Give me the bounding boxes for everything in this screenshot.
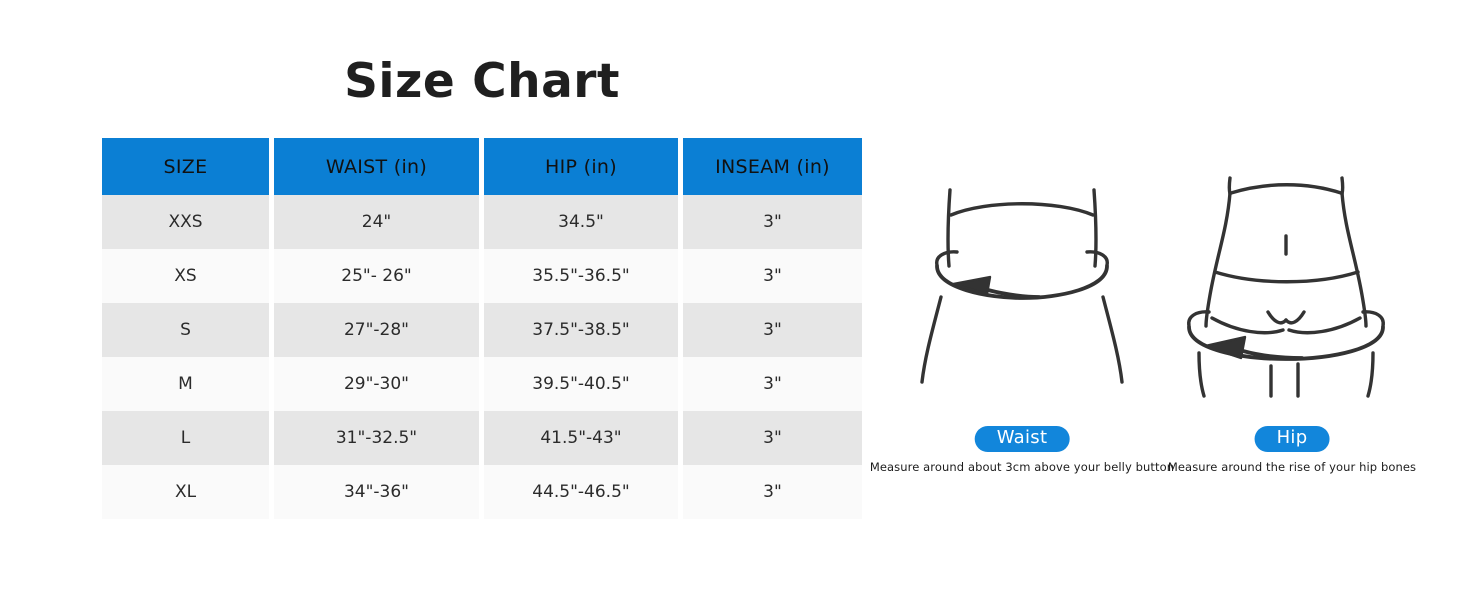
table-row: XS 25"- 26" 35.5"-36.5" 3" xyxy=(102,249,862,303)
arrow-head-icon xyxy=(1205,337,1245,358)
waist-measure-illustration xyxy=(887,160,1157,400)
cell-size: XS xyxy=(102,249,269,303)
table-row: XL 34"-36" 44.5"-46.5" 3" xyxy=(102,465,862,519)
table-row: XXS 24" 34.5" 3" xyxy=(102,195,862,249)
cell-waist: 31"-32.5" xyxy=(274,411,479,465)
cell-waist: 34"-36" xyxy=(274,465,479,519)
waist-measure-block: Waist Measure around about 3cm above you… xyxy=(887,160,1157,490)
cell-size: XXS xyxy=(102,195,269,249)
cell-inseam: 3" xyxy=(683,411,862,465)
cell-size: M xyxy=(102,357,269,411)
column-header-waist: WAIST (in) xyxy=(274,138,479,195)
cell-waist: 27"-28" xyxy=(274,303,479,357)
cell-hip: 37.5"-38.5" xyxy=(484,303,678,357)
table-header-row: SIZE WAIST (in) HIP (in) INSEAM (in) xyxy=(102,138,862,195)
cell-inseam: 3" xyxy=(683,249,862,303)
cell-inseam: 3" xyxy=(683,465,862,519)
cell-size: S xyxy=(102,303,269,357)
table-row: S 27"-28" 37.5"-38.5" 3" xyxy=(102,303,862,357)
cell-waist: 25"- 26" xyxy=(274,249,479,303)
hip-measure-illustration xyxy=(1157,160,1427,400)
page-title: Size Chart xyxy=(102,58,862,105)
column-header-hip: HIP (in) xyxy=(484,138,678,195)
column-header-size: SIZE xyxy=(102,138,269,195)
waist-badge: Waist xyxy=(975,426,1070,452)
hip-caption: Measure around the rise of your hip bone… xyxy=(1168,460,1416,474)
cell-hip: 39.5"-40.5" xyxy=(484,357,678,411)
cell-size: L xyxy=(102,411,269,465)
waist-caption: Measure around about 3cm above your bell… xyxy=(870,460,1174,474)
hip-badge: Hip xyxy=(1255,426,1330,452)
cell-hip: 44.5"-46.5" xyxy=(484,465,678,519)
column-header-inseam: INSEAM (in) xyxy=(683,138,862,195)
hip-measure-block: Hip Measure around the rise of your hip … xyxy=(1157,160,1427,490)
size-chart-page: Size Chart SIZE WAIST (in) HIP (in) INSE… xyxy=(0,0,1464,601)
table-row: M 29"-30" 39.5"-40.5" 3" xyxy=(102,357,862,411)
cell-hip: 35.5"-36.5" xyxy=(484,249,678,303)
size-chart-table: SIZE WAIST (in) HIP (in) INSEAM (in) XXS… xyxy=(102,138,862,519)
cell-waist: 24" xyxy=(274,195,479,249)
measurement-guide-panel: Waist Measure around about 3cm above you… xyxy=(880,160,1440,490)
cell-hip: 41.5"-43" xyxy=(484,411,678,465)
cell-inseam: 3" xyxy=(683,195,862,249)
cell-inseam: 3" xyxy=(683,357,862,411)
cell-size: XL xyxy=(102,465,269,519)
cell-hip: 34.5" xyxy=(484,195,678,249)
cell-waist: 29"-30" xyxy=(274,357,479,411)
cell-inseam: 3" xyxy=(683,303,862,357)
table-row: L 31"-32.5" 41.5"-43" 3" xyxy=(102,411,862,465)
